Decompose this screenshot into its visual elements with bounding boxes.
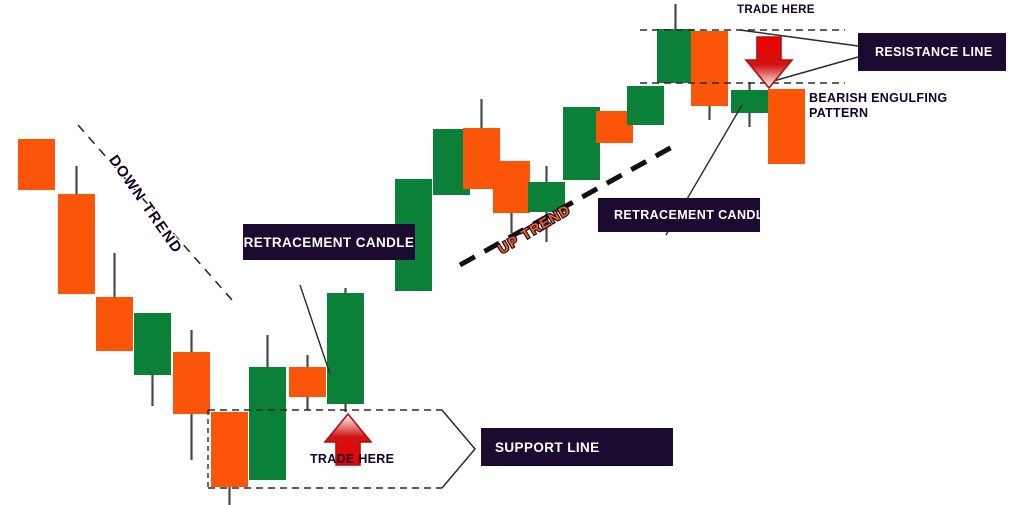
candle-body xyxy=(249,367,286,480)
candle-19-bearish xyxy=(691,31,728,120)
candle-6-bearish xyxy=(211,412,248,505)
candle-body xyxy=(657,29,694,83)
candle-21-bearish xyxy=(768,89,805,164)
arrow-down-icon xyxy=(746,37,792,88)
label-resistance-line: RESISTANCE LINE xyxy=(858,33,1006,71)
candle-5-bearish xyxy=(173,330,210,460)
label-bearish-engulfing-pattern: BEARISH ENGULFING PATTERN xyxy=(809,91,949,121)
candle-13-bearish xyxy=(493,161,530,233)
candle-body xyxy=(768,89,805,164)
candle-8-bearish xyxy=(289,355,326,410)
candle-body xyxy=(18,139,55,190)
candle-body xyxy=(731,90,768,113)
label-support-line: SUPPORT LINE xyxy=(481,428,673,466)
label-retracement-candle-2: RETRACEMENT CANDLE xyxy=(598,198,760,232)
candle-body xyxy=(691,31,728,106)
label-retracement-candle-2-text: RETRACEMENT CANDLE xyxy=(614,208,773,222)
label-support-line-text: SUPPORT LINE xyxy=(495,440,600,455)
label-retracement-candle-1-text: RETRACEMENT CANDLE xyxy=(244,235,415,250)
diagram-canvas: RETRACEMENT CANDLE RETRACEMENT CANDLE SU… xyxy=(0,0,1024,505)
candle-20-bullish xyxy=(731,82,768,127)
candle-15-bullish xyxy=(563,107,600,180)
candle-1-bearish xyxy=(18,139,55,190)
label-trade-here-resistance: TRADE HERE xyxy=(737,4,815,16)
candle-body xyxy=(58,194,95,294)
label-trade-here-support: TRADE HERE xyxy=(310,452,394,466)
retracement-1-leader-line xyxy=(300,285,330,374)
candle-17-bullish xyxy=(627,86,664,125)
candle-body xyxy=(563,107,600,180)
candle-18-bullish xyxy=(657,4,694,83)
support-zone-arrow-head xyxy=(442,410,475,488)
candle-body xyxy=(327,293,364,404)
candle-body xyxy=(493,161,530,213)
candle-body xyxy=(134,313,171,375)
candle-body xyxy=(173,352,210,414)
candle-body xyxy=(211,412,248,487)
label-resistance-line-text: RESISTANCE LINE xyxy=(875,45,993,59)
candle-body xyxy=(627,86,664,125)
candle-body xyxy=(289,367,326,397)
candle-2-bearish xyxy=(58,166,95,294)
candle-4-bullish xyxy=(134,313,171,406)
candle-7-bullish xyxy=(249,335,286,480)
candle-3-bearish xyxy=(96,253,133,351)
label-retracement-candle-1: RETRACEMENT CANDLE xyxy=(243,224,415,260)
candle-body xyxy=(96,297,133,351)
candle-9-bullish xyxy=(327,288,364,412)
trade-here-down-arrow xyxy=(746,37,792,88)
